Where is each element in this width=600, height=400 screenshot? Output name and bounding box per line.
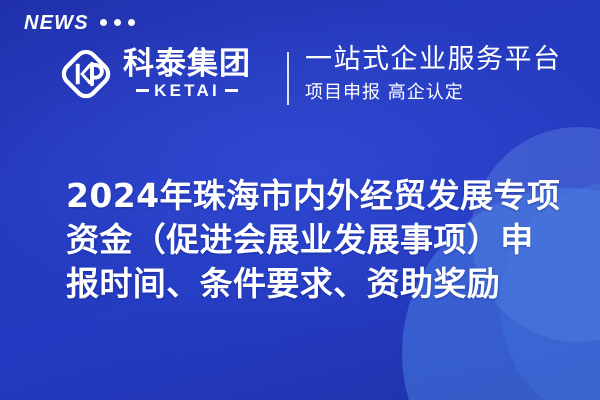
news-banner: NEWS	[0, 0, 600, 400]
tagline-group: 一站式企业服务平台 项目申报 高企认定	[305, 44, 562, 103]
brand-names: 科泰集团 KETAI	[123, 49, 251, 99]
brand-name-en-row: KETAI	[136, 82, 238, 99]
dot-icon	[114, 19, 121, 26]
dot-icon	[128, 19, 135, 26]
brand-rule-right-icon	[225, 89, 238, 92]
news-kicker-label: NEWS	[24, 13, 89, 33]
ketai-diamond-logo-icon	[56, 44, 116, 104]
vertical-divider	[287, 52, 289, 105]
brand-name-cn: 科泰集团	[123, 49, 251, 81]
tagline-main: 一站式企业服务平台	[305, 44, 562, 76]
news-kicker: NEWS	[24, 13, 135, 33]
brand-lockup: 科泰集团 KETAI	[56, 44, 251, 104]
kicker-dots-icon	[100, 19, 135, 27]
dot-icon	[100, 19, 107, 26]
banner-content: NEWS	[0, 0, 600, 400]
tagline-sub: 项目申报 高企认定	[305, 82, 562, 104]
brand-name-en: KETAI	[154, 82, 220, 99]
brand-rule-left-icon	[136, 89, 149, 92]
page-title: 2024年珠海市内外经贸发展专项资金（促进会展业发展事项）申报时间、条件要求、资…	[66, 174, 566, 306]
